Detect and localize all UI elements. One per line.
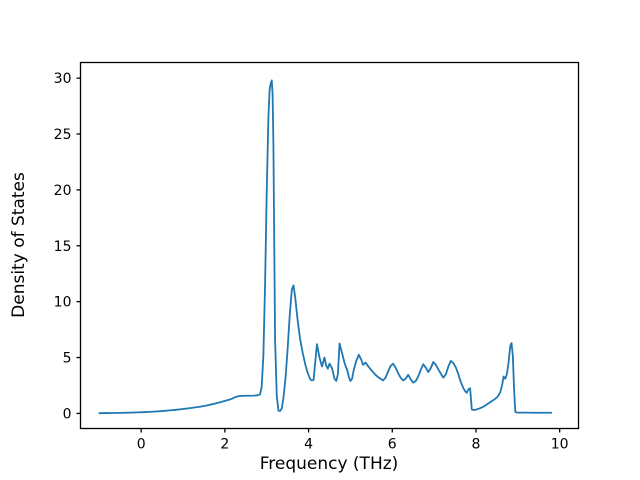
- x-tick-label: 8: [472, 437, 481, 453]
- y-tick-label: 5: [63, 351, 72, 367]
- y-tick-label: 0: [63, 406, 72, 422]
- y-tick-label: 10: [54, 295, 72, 311]
- x-tick-label: 10: [551, 437, 569, 453]
- x-axis-ticks: 0246810: [137, 429, 569, 453]
- y-tick-label: 30: [54, 71, 72, 87]
- axes-spines: [81, 63, 579, 429]
- figure-canvas: 0246810 051015202530 Frequency (THz) Den…: [0, 0, 640, 480]
- x-tick-label: 6: [388, 437, 397, 453]
- axes-frame: [81, 63, 579, 429]
- y-tick-label: 15: [54, 239, 72, 255]
- y-tick-label: 20: [54, 183, 72, 199]
- y-axis-ticks: 051015202530: [54, 71, 81, 422]
- x-tick-label: 4: [304, 437, 313, 453]
- x-tick-label: 2: [220, 437, 229, 453]
- data-series-line-0: [99, 80, 551, 413]
- x-axis-title: Frequency (THz): [260, 454, 399, 474]
- dos-line-chart: 0246810 051015202530 Frequency (THz) Den…: [0, 0, 640, 480]
- y-axis-title: Density of States: [9, 172, 29, 318]
- y-tick-label: 25: [54, 127, 72, 143]
- x-tick-label: 0: [137, 437, 146, 453]
- data-series-layer: [99, 80, 551, 413]
